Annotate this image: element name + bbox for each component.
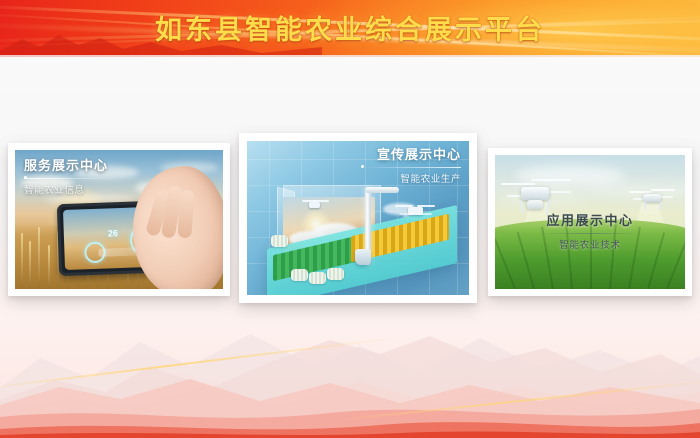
card-1-text-block: 服务展示中心 智能农业信息 — [24, 155, 120, 196]
drone-large — [395, 201, 437, 219]
card-application-display-center[interactable]: 应用展示中心 智能农业技术 — [488, 148, 692, 296]
hay-roll — [327, 268, 344, 280]
card-3-divider — [538, 233, 642, 234]
hay-roll — [271, 235, 288, 247]
card-3-subtitle: 智能农业技术 — [488, 237, 692, 251]
sensor-pole-arm — [365, 187, 399, 193]
card-promotion-display-center[interactable]: 宣传展示中心 智能农业生产 — [239, 133, 477, 303]
banner-bottom-edge — [0, 55, 700, 57]
card-1-title: 服务展示中心 — [24, 155, 120, 174]
card-2-text-block: 宣传展示中心 智能农业生产 — [363, 144, 461, 185]
background-mountains-near — [0, 343, 700, 438]
hud-temperature: 26 — [108, 228, 118, 238]
card-3-title: 应用展示中心 — [488, 210, 692, 229]
app-root: 如东县智能农业综合展示平台 — [0, 0, 700, 438]
header-banner: 如东县智能农业综合展示平台 — [0, 0, 700, 55]
card-1-subtitle: 智能农业信息 — [24, 182, 120, 196]
card-1-divider — [24, 178, 120, 179]
water-tank — [355, 249, 371, 265]
card-2-divider-dot — [361, 165, 364, 168]
card-3-text-block: 应用展示中心 智能农业技术 — [488, 210, 692, 251]
drone-small — [301, 197, 329, 209]
hay-roll — [309, 272, 326, 284]
card-1-divider-dot — [24, 176, 27, 179]
card-2-subtitle: 智能农业生产 — [363, 171, 461, 185]
card-2-divider — [363, 167, 461, 168]
page-title: 如东县智能农业综合展示平台 — [0, 0, 700, 55]
card-service-display-center[interactable]: 26 服务展示中心 智能农业信息 — [8, 143, 230, 296]
hay-roll — [291, 269, 308, 281]
card-2-title: 宣传展示中心 — [363, 144, 461, 163]
